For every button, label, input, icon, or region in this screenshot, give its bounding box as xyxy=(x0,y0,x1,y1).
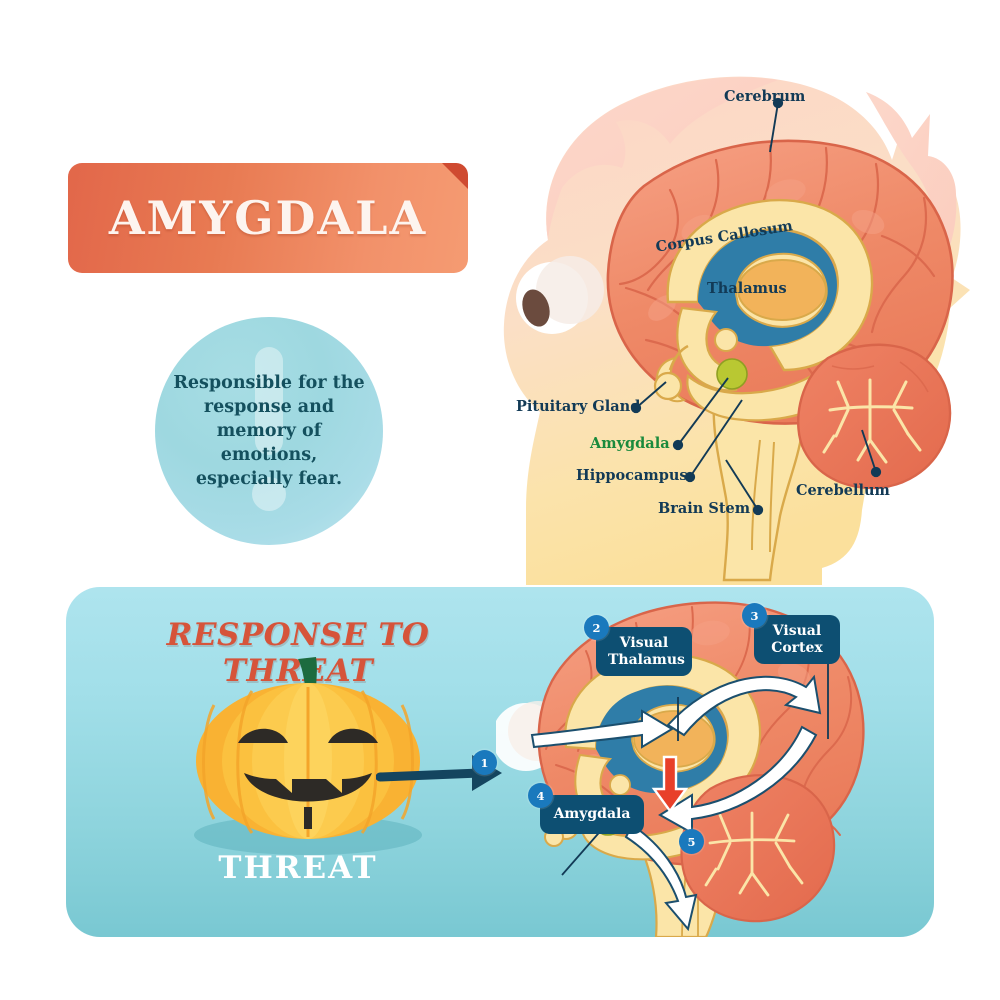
step-badge-1: 1 xyxy=(472,750,497,775)
infographic-canvas: Cerebrum Corpus Callosum Thalamus Pituit… xyxy=(0,0,1000,1000)
label-pituitary-gland: Pituitary Gland xyxy=(516,398,640,415)
title-banner: AMYGDALA xyxy=(68,163,468,273)
info-circle: Responsible for the response and memory … xyxy=(155,317,383,545)
callout-amygdala: Amygdala xyxy=(540,795,644,834)
step-badge-4: 4 xyxy=(528,783,553,808)
callout-visual-thalamus-line2: Thalamus xyxy=(608,652,685,668)
info-circle-text: Responsible for the response and memory … xyxy=(155,317,383,545)
label-brain-stem: Brain Stem xyxy=(658,500,750,517)
label-cerebrum: Cerebrum xyxy=(724,88,805,105)
step1-arrow xyxy=(376,737,516,807)
callout-visual-cortex-line2: Cortex xyxy=(771,640,823,656)
label-thalamus: Thalamus xyxy=(707,280,787,297)
callout-amygdala-label: Amygdala xyxy=(554,806,631,822)
amygdala-marker xyxy=(717,359,747,389)
step-badge-2: 2 xyxy=(584,615,609,640)
threat-caption: THREAT xyxy=(88,850,508,886)
step-badge-5: 5 xyxy=(679,829,704,854)
head-brain-diagram: Cerebrum Corpus Callosum Thalamus Pituit… xyxy=(430,40,1000,585)
label-cerebellum: Cerebellum xyxy=(796,482,890,499)
cerebellum-lower xyxy=(681,775,834,921)
lower-brain-diagram xyxy=(496,589,934,937)
callout-visual-cortex: Visual Cortex xyxy=(754,615,840,664)
page-title: AMYGDALA xyxy=(68,163,468,273)
label-hippocampus: Hippocampus xyxy=(576,467,688,484)
callout-visual-thalamus-line1: Visual xyxy=(620,635,668,651)
response-to-threat-panel: RESPONSE TO THREAT xyxy=(66,587,934,937)
callout-visual-thalamus: Visual Thalamus xyxy=(596,627,692,676)
callout-visual-cortex-line1: Visual xyxy=(773,623,821,639)
step-badge-3: 3 xyxy=(742,603,767,628)
label-amygdala: Amygdala xyxy=(590,435,670,452)
